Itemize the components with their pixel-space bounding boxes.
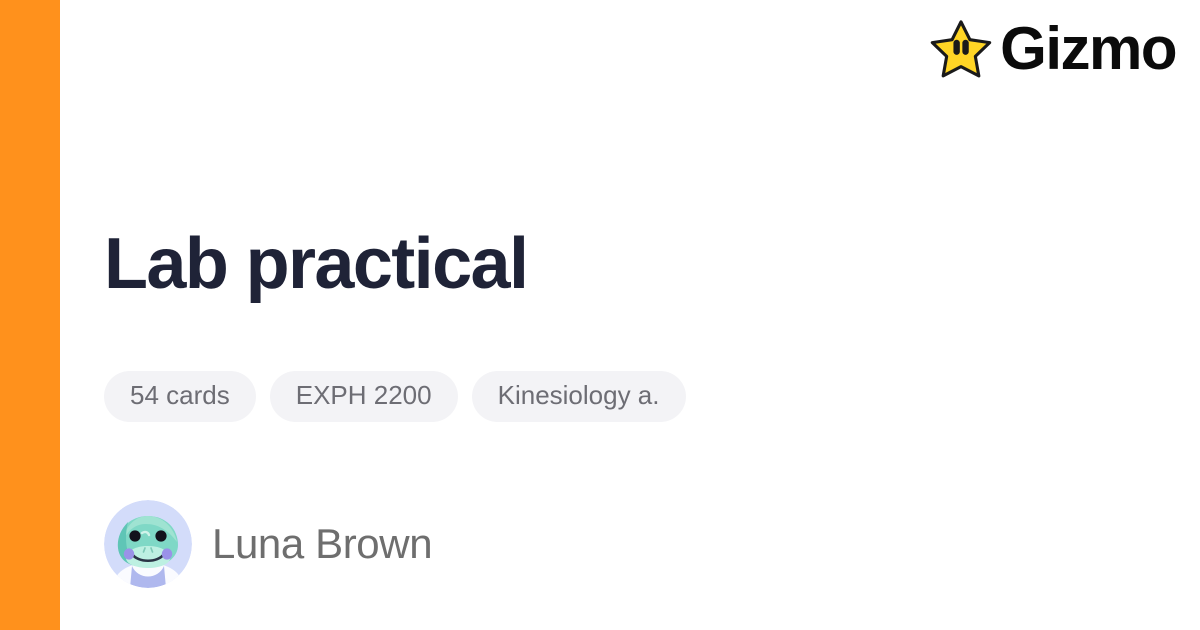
frog-avatar-icon (104, 500, 192, 588)
accent-stripe (0, 0, 60, 630)
author-row: Luna Brown (104, 500, 432, 588)
pill-subject: Kinesiology a. (472, 371, 686, 422)
main-content: Lab practical 54 cards EXPH 2200 Kinesio… (104, 0, 1104, 630)
page-title: Lab practical (104, 228, 527, 300)
pill-course-code: EXPH 2200 (270, 371, 458, 422)
meta-pill-row: 54 cards EXPH 2200 Kinesiology a. (104, 371, 686, 422)
pill-card-count: 54 cards (104, 371, 256, 422)
author-name: Luna Brown (212, 523, 432, 565)
